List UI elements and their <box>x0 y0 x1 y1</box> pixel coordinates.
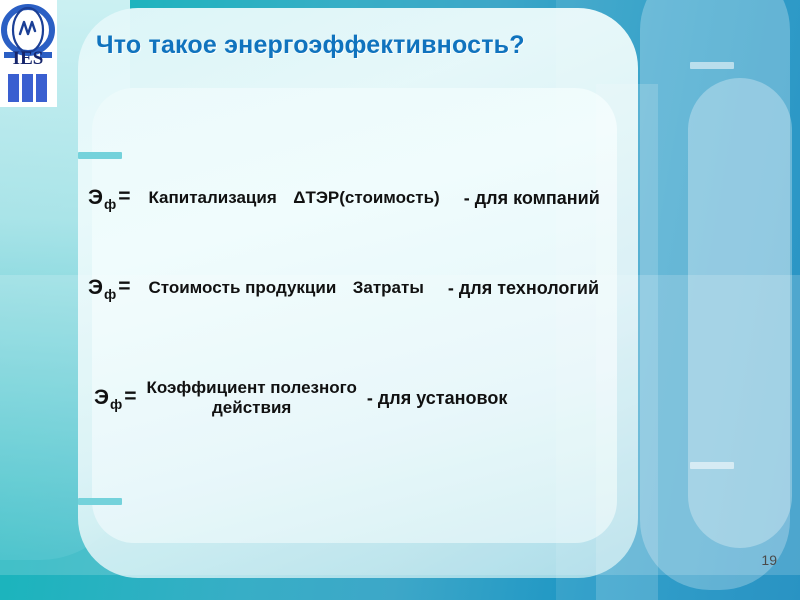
formula-fraction: Стоимость продукции Затраты <box>142 277 429 298</box>
fraction-denominator: ΔТЭР(стоимость) <box>287 188 446 207</box>
formula-list: Эф= Капитализация ΔТЭР(стоимость) - для … <box>0 0 800 600</box>
fraction-numerator: Капитализация <box>142 188 282 207</box>
slide: IES Что такое энергоэффективность? Эф= К… <box>0 0 800 600</box>
expression-line-1: Коэффициент полезного <box>146 378 356 397</box>
formula-expression: Коэффициент полезного действия <box>146 378 356 419</box>
formula-tag: - для компаний <box>464 188 600 209</box>
formula-equals: = <box>124 385 136 409</box>
formula-tag: - для установок <box>367 388 507 409</box>
formula-variable: Э <box>88 186 103 210</box>
formula-tag: - для технологий <box>448 278 599 299</box>
formula-lhs: Эф= <box>88 186 130 210</box>
formula-variable: Э <box>94 386 109 410</box>
formula-row-technologies: Эф= Стоимость продукции Затраты - для те… <box>88 276 599 300</box>
formula-equals: = <box>118 185 130 209</box>
formula-fraction: Капитализация ΔТЭР(стоимость) <box>142 187 445 208</box>
expression-line-2: действия <box>212 398 291 417</box>
fraction-numerator: Стоимость продукции <box>142 278 342 297</box>
formula-subscript: ф <box>104 196 116 212</box>
formula-equals: = <box>118 275 130 299</box>
formula-subscript: ф <box>104 286 116 302</box>
formula-row-installations: Эф= Коэффициент полезного действия - для… <box>94 378 507 419</box>
page-number: 19 <box>761 552 777 568</box>
formula-variable: Э <box>88 276 103 300</box>
formula-row-companies: Эф= Капитализация ΔТЭР(стоимость) - для … <box>88 186 600 210</box>
fraction-denominator: Затраты <box>347 278 430 297</box>
formula-lhs: Эф= <box>88 276 130 300</box>
formula-subscript: ф <box>110 396 122 412</box>
formula-lhs: Эф= <box>94 386 136 410</box>
